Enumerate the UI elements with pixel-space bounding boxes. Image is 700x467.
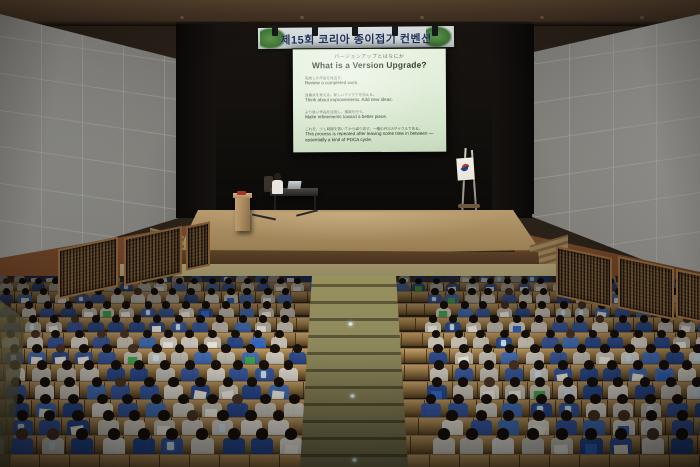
audience-member-head — [615, 428, 627, 439]
audience-member-head — [484, 360, 494, 369]
slide-block: より良い作品を目指し、推敲を行う。 Make refinements towar… — [305, 110, 438, 121]
audience-member-head — [659, 360, 669, 369]
ceiling-fixture — [640, 16, 644, 19]
audience-member-head — [115, 377, 125, 387]
smartphone-screen — [153, 355, 158, 361]
audience-member-head — [535, 377, 545, 387]
audience-member-head — [223, 377, 233, 387]
acoustic-grille-panel — [186, 221, 210, 270]
wall-seam — [123, 14, 124, 272]
audience-member-head — [576, 315, 584, 323]
audience-member-head — [151, 394, 162, 404]
audience-member-head — [122, 394, 133, 404]
audience-member-head — [256, 428, 268, 439]
audience-member-head — [254, 330, 263, 338]
audience-member-head — [289, 394, 300, 404]
audience-member-head — [187, 410, 198, 421]
audience-member-head — [481, 394, 492, 404]
audience-member-head — [596, 315, 604, 323]
audience-member-head — [431, 288, 438, 295]
wall-seam — [613, 14, 614, 282]
audience-member-head — [152, 344, 161, 353]
audience-member-head — [285, 428, 297, 439]
smartphone-screen — [432, 297, 436, 302]
audience-member-head — [429, 315, 437, 323]
audience-member-head — [533, 410, 544, 421]
audience-member-head — [16, 428, 28, 439]
audience-member-head — [617, 394, 628, 404]
audience-member-head — [216, 315, 224, 323]
audience-member-head — [222, 301, 230, 309]
seat-back — [402, 333, 423, 346]
audience-member-head — [85, 301, 93, 309]
audience-member-head — [585, 428, 597, 439]
audience-member-head — [128, 344, 137, 353]
aisle-step — [300, 403, 408, 406]
seat-back — [407, 304, 426, 315]
audience-member-head — [211, 360, 221, 369]
seated-person-torso — [272, 180, 283, 194]
slide-en-line: Make refinements toward a better piece. — [305, 114, 438, 121]
audience-member-head — [162, 301, 170, 309]
audience-member-head — [111, 360, 121, 369]
audience-member-head — [484, 377, 494, 387]
seat-back — [490, 455, 520, 467]
audience-member-head — [217, 410, 228, 421]
audience-member-head — [227, 288, 234, 295]
audience-member-head — [560, 301, 568, 309]
audience-member-head — [536, 394, 547, 404]
audience-member-head — [640, 315, 648, 323]
audience-member-head — [134, 360, 144, 369]
audience-member-head — [260, 394, 271, 404]
ceiling-fixture — [540, 16, 544, 19]
audience-member-head — [158, 410, 169, 421]
aisle-step — [300, 454, 408, 457]
audience-member-head — [260, 278, 267, 285]
audience-member-head — [239, 315, 247, 323]
audience-member-head — [438, 428, 450, 439]
seat-back — [403, 382, 428, 398]
audience-member-head — [479, 301, 487, 309]
audience-member-head — [509, 360, 519, 369]
slide-en-line: Think about improvements. Add new ideas. — [305, 97, 438, 104]
wall-seam — [41, 14, 42, 272]
audience-member-head — [153, 315, 161, 323]
aisle-step — [300, 369, 408, 372]
audience-member-head — [484, 288, 491, 295]
audience-member-head — [459, 360, 469, 369]
audience-member-head — [225, 278, 232, 285]
audience-member-head — [646, 344, 655, 353]
audience-member-head — [44, 301, 52, 309]
audience-member-head — [564, 394, 575, 404]
smartphone-screen — [626, 355, 631, 361]
audience-member-head — [440, 301, 448, 309]
smartphone-screen — [694, 355, 699, 361]
audience-member-head — [666, 377, 676, 387]
audience-member-head — [554, 344, 563, 353]
audience-member-head — [76, 428, 88, 439]
audience-member-head — [625, 344, 634, 353]
audience-member-head — [672, 394, 683, 404]
lectern — [235, 196, 250, 231]
audience-member-head — [587, 377, 597, 387]
audience-member-head — [563, 377, 573, 387]
smartphone-screen — [79, 297, 83, 302]
audience-member-head — [487, 278, 494, 285]
aisle-step — [300, 301, 408, 304]
seat-back — [130, 455, 160, 467]
audience-member-head — [610, 330, 619, 338]
audience-member-head — [274, 377, 284, 387]
audience-member-head — [284, 360, 294, 369]
audience-member-head — [134, 288, 141, 295]
audience-member-head — [510, 377, 520, 387]
wall-seam — [569, 14, 570, 282]
audience-member-head — [613, 377, 623, 387]
banner-clip — [272, 25, 278, 36]
audience-member-head — [44, 410, 55, 421]
audience-member-head — [588, 410, 599, 421]
audience-member-head — [92, 377, 102, 387]
audience-member-head — [283, 301, 291, 309]
audience-member-head — [466, 428, 478, 439]
slide-block: 完成した作品を見直す。 Review a completed work. — [305, 76, 438, 87]
audience-member-head — [72, 410, 83, 421]
wall-seam — [0, 109, 205, 140]
audience-member-head — [556, 315, 564, 323]
center-aisle — [300, 276, 408, 467]
audience-member-head — [233, 360, 243, 369]
smartphone-screen — [167, 442, 174, 450]
audience-member-head — [198, 344, 207, 353]
aisle-step — [300, 335, 408, 338]
wall-seam — [0, 36, 205, 67]
audience-member-head — [589, 330, 598, 338]
audience-member-head — [537, 278, 544, 285]
audience-member-head — [645, 394, 656, 404]
audience-member-head — [433, 278, 440, 285]
audience-member-head — [692, 377, 700, 387]
banner-clip — [432, 25, 438, 36]
audience-member-head — [103, 410, 114, 421]
audience-member-head — [646, 410, 657, 421]
audience-member-head — [259, 315, 267, 323]
audience-member-head — [600, 344, 609, 353]
audience-member-head — [138, 428, 150, 439]
ceiling-fixture — [420, 16, 424, 19]
audience-member-head — [434, 360, 444, 369]
slide-title: What is a Version Upgrade? — [293, 60, 446, 71]
audience-member-head — [196, 315, 204, 323]
seated-person-head — [274, 173, 281, 180]
slide-en-line: Review a completed work. — [305, 80, 438, 87]
slide-block: 改善点を考える。新しいアイデアを加える。 Think about improve… — [305, 93, 438, 104]
slide-jp-line: 完成した作品を見直す。 — [305, 76, 438, 81]
smartphone-screen — [146, 310, 150, 315]
smartphone-screen — [261, 371, 266, 378]
audience-member-head — [243, 301, 251, 309]
audience-member-head — [208, 330, 217, 338]
audience-member-head — [607, 360, 617, 369]
slide-block: これを、少し時間を置いてから繰り返す。一種のPDCAサイクルである。 This … — [305, 127, 438, 144]
audience-member-head — [112, 315, 120, 323]
aisle-floor-light — [352, 458, 357, 462]
audience-member-head — [530, 344, 539, 353]
projection-screen-surface: バージョンアップとはなにか What is a Version Upgrade?… — [293, 49, 447, 153]
wall-seam — [0, 146, 205, 177]
audience-member-head — [500, 330, 509, 338]
audience-member-head — [246, 344, 255, 353]
audience-member-head — [84, 360, 94, 369]
smartphone-screen — [693, 389, 699, 396]
audience-member-head — [32, 344, 41, 353]
audience-member-head — [244, 278, 251, 285]
audience-member-head — [103, 301, 111, 309]
audience-member-head — [497, 428, 509, 439]
audience-member-head — [62, 360, 72, 369]
audience-member-head — [175, 315, 183, 323]
audience-member-head — [29, 315, 37, 323]
audience-member-head — [501, 301, 509, 309]
audience-member-head — [534, 360, 544, 369]
audience-member-head — [640, 377, 650, 387]
audience-member-head — [676, 428, 688, 439]
audience-member-head — [108, 428, 120, 439]
seat-back — [670, 455, 700, 467]
audience-member-head — [293, 344, 302, 353]
audience-member-head — [243, 288, 250, 295]
audience-member-head — [458, 377, 468, 387]
audience-member-head — [459, 344, 468, 353]
audience-member-head — [164, 330, 173, 338]
audience-member-head — [207, 394, 218, 404]
audience-member-head — [677, 330, 686, 338]
projection-screen: バージョンアップとはなにか What is a Version Upgrade?… — [292, 48, 448, 154]
audience-member-head — [64, 377, 74, 387]
audience-member-head — [432, 330, 441, 338]
audience-member-head — [449, 315, 457, 323]
seat-back — [160, 455, 190, 467]
audience-member-head — [247, 377, 257, 387]
audience-member-head — [264, 288, 271, 295]
seat-back — [40, 455, 70, 467]
audience-member-head — [455, 330, 464, 338]
seat-back — [291, 292, 308, 302]
audience-member-head — [245, 410, 256, 421]
audience-member-head — [176, 278, 183, 285]
audience-member-head — [540, 288, 547, 295]
stage-curtain-left — [176, 24, 216, 214]
audience-member-head — [561, 410, 572, 421]
audience-member-head — [71, 315, 79, 323]
audience-member-head — [618, 410, 629, 421]
audience-member-head — [79, 344, 88, 353]
audience-member-head — [670, 344, 679, 353]
audience-member-head — [187, 288, 194, 295]
audience-member-head — [92, 315, 100, 323]
audience-member-head — [476, 410, 487, 421]
smartphone-screen — [497, 277, 501, 281]
seat-back — [190, 455, 220, 467]
aisle-step — [300, 420, 408, 423]
audience-member-head — [535, 315, 543, 323]
audience-member-head — [277, 278, 284, 285]
ceiling-fixture — [180, 16, 184, 19]
audience-member-head — [282, 288, 289, 295]
audience-member-head — [40, 377, 50, 387]
wall-seam — [0, 73, 205, 104]
audience-member-head — [202, 301, 210, 309]
seat-back — [520, 455, 550, 467]
audience-member-head — [647, 428, 659, 439]
audience-member-head — [22, 288, 29, 295]
audience-member-head — [37, 360, 47, 369]
seat-back — [610, 455, 640, 467]
colored-folder — [585, 444, 597, 454]
audience-member-head — [196, 428, 208, 439]
audience-member-head — [232, 394, 243, 404]
audience-member-head — [168, 377, 178, 387]
lectern-red-object — [237, 191, 246, 195]
audience-member-head — [513, 315, 521, 323]
stage-curtain-right — [492, 24, 534, 214]
audience-member-head — [3, 278, 10, 285]
seat-back — [250, 455, 280, 467]
seat-back — [412, 292, 429, 302]
audience-member-head — [231, 330, 240, 338]
smartphone-screen — [176, 324, 181, 329]
audience-member-head — [556, 428, 568, 439]
audience-member-head — [151, 288, 158, 295]
wall-seam — [82, 14, 83, 272]
audience-member-head — [178, 394, 189, 404]
audience-member-head — [490, 315, 498, 323]
audience-member-head — [75, 330, 84, 338]
audience-member-head — [693, 344, 700, 353]
audience-member-head — [144, 377, 154, 387]
audience-member-head — [263, 301, 271, 309]
colored-folder — [245, 357, 254, 365]
seat-back — [580, 455, 610, 467]
audience-member-head — [185, 360, 195, 369]
seat-back — [100, 455, 130, 467]
aisle-step — [300, 386, 408, 389]
audience-member-head — [503, 410, 514, 421]
audience-member-head — [527, 428, 539, 439]
auditorium-photo: 제15회 코리아 종이접기 컨벤션 バージョンアップとはなにか What is … — [0, 0, 700, 467]
banner-clip — [352, 25, 358, 36]
audience-member-head — [521, 278, 528, 285]
audience-member-head — [446, 410, 457, 421]
ceiling-fixture — [300, 16, 304, 19]
audience-member-head — [65, 301, 73, 309]
audience-member-head — [160, 360, 170, 369]
banner-clip — [392, 25, 398, 36]
audience-member-head — [682, 360, 692, 369]
audience-member-head — [129, 410, 140, 421]
audience-member-head — [546, 330, 555, 338]
audience-member-head — [102, 344, 111, 353]
audience-member-head — [619, 315, 627, 323]
slide-en-line: This process is repeated after leaving s… — [305, 131, 438, 144]
flag-stand-base — [458, 204, 480, 208]
seat-back — [550, 455, 580, 467]
audience-member-head — [468, 288, 475, 295]
audience-member-head — [133, 315, 141, 323]
audience-member-head — [584, 360, 594, 369]
audience-member-head — [461, 301, 469, 309]
wall-seam — [0, 183, 205, 214]
audience-member-head — [270, 344, 279, 353]
audience-member-head — [185, 330, 194, 338]
audience-member-head — [415, 278, 422, 285]
acoustic-grille-panel — [676, 269, 700, 323]
audience-member-head — [275, 330, 284, 338]
audience-member-head — [47, 428, 59, 439]
audience-member-head — [281, 315, 289, 323]
aisle-floor-light — [350, 394, 355, 398]
banner-clip — [312, 25, 318, 36]
audience-member-head — [449, 278, 456, 285]
seat-back — [70, 455, 100, 467]
table-leg — [314, 196, 316, 210]
audience-member-head — [538, 301, 546, 309]
audience-member-head — [469, 278, 476, 285]
aisle-step — [300, 318, 408, 321]
audience-member-head — [259, 360, 269, 369]
audience-member-head — [399, 278, 406, 285]
audience-member-head — [558, 360, 568, 369]
slide-body: 完成した作品を見直す。 Review a completed work. 改善点… — [305, 76, 438, 150]
audience-member-head — [17, 410, 28, 421]
seat-back — [460, 455, 490, 467]
slide-jp-line: より良い作品を目指し、推敲を行う。 — [305, 110, 438, 115]
audience-member-head — [294, 278, 301, 285]
audience-member-head — [505, 288, 512, 295]
seat-back — [10, 455, 40, 467]
audience-member-head — [35, 278, 42, 285]
audience-member-head — [228, 428, 240, 439]
audience-member-head — [221, 344, 230, 353]
seat-back — [220, 455, 250, 467]
audience-member-head — [633, 360, 643, 369]
aisle-step — [300, 352, 408, 355]
aisle-step — [300, 284, 408, 287]
audience-member-head — [31, 330, 40, 338]
smartphone-screen — [450, 324, 455, 329]
seat-back — [405, 365, 429, 380]
smartphone-screen — [219, 424, 225, 432]
wall-seam — [656, 14, 657, 282]
slide-jp-line: これを、少し時間を置いてから繰り返す。一種のPDCAサイクルである。 — [305, 127, 438, 132]
audience-member-head — [68, 394, 79, 404]
audience-member-head — [476, 330, 485, 338]
audience-member-head — [519, 301, 527, 309]
seat-back — [640, 455, 670, 467]
audience-member-head — [143, 330, 152, 338]
audience-member-head — [566, 330, 575, 338]
aisle-step — [300, 437, 408, 440]
table-leg — [274, 196, 276, 210]
audience-member-head — [166, 428, 178, 439]
audience-member-head — [507, 394, 518, 404]
audience-member-head — [122, 301, 130, 309]
audience-member-head — [590, 394, 601, 404]
audience-member-head — [97, 394, 108, 404]
audience-member-head — [50, 315, 58, 323]
